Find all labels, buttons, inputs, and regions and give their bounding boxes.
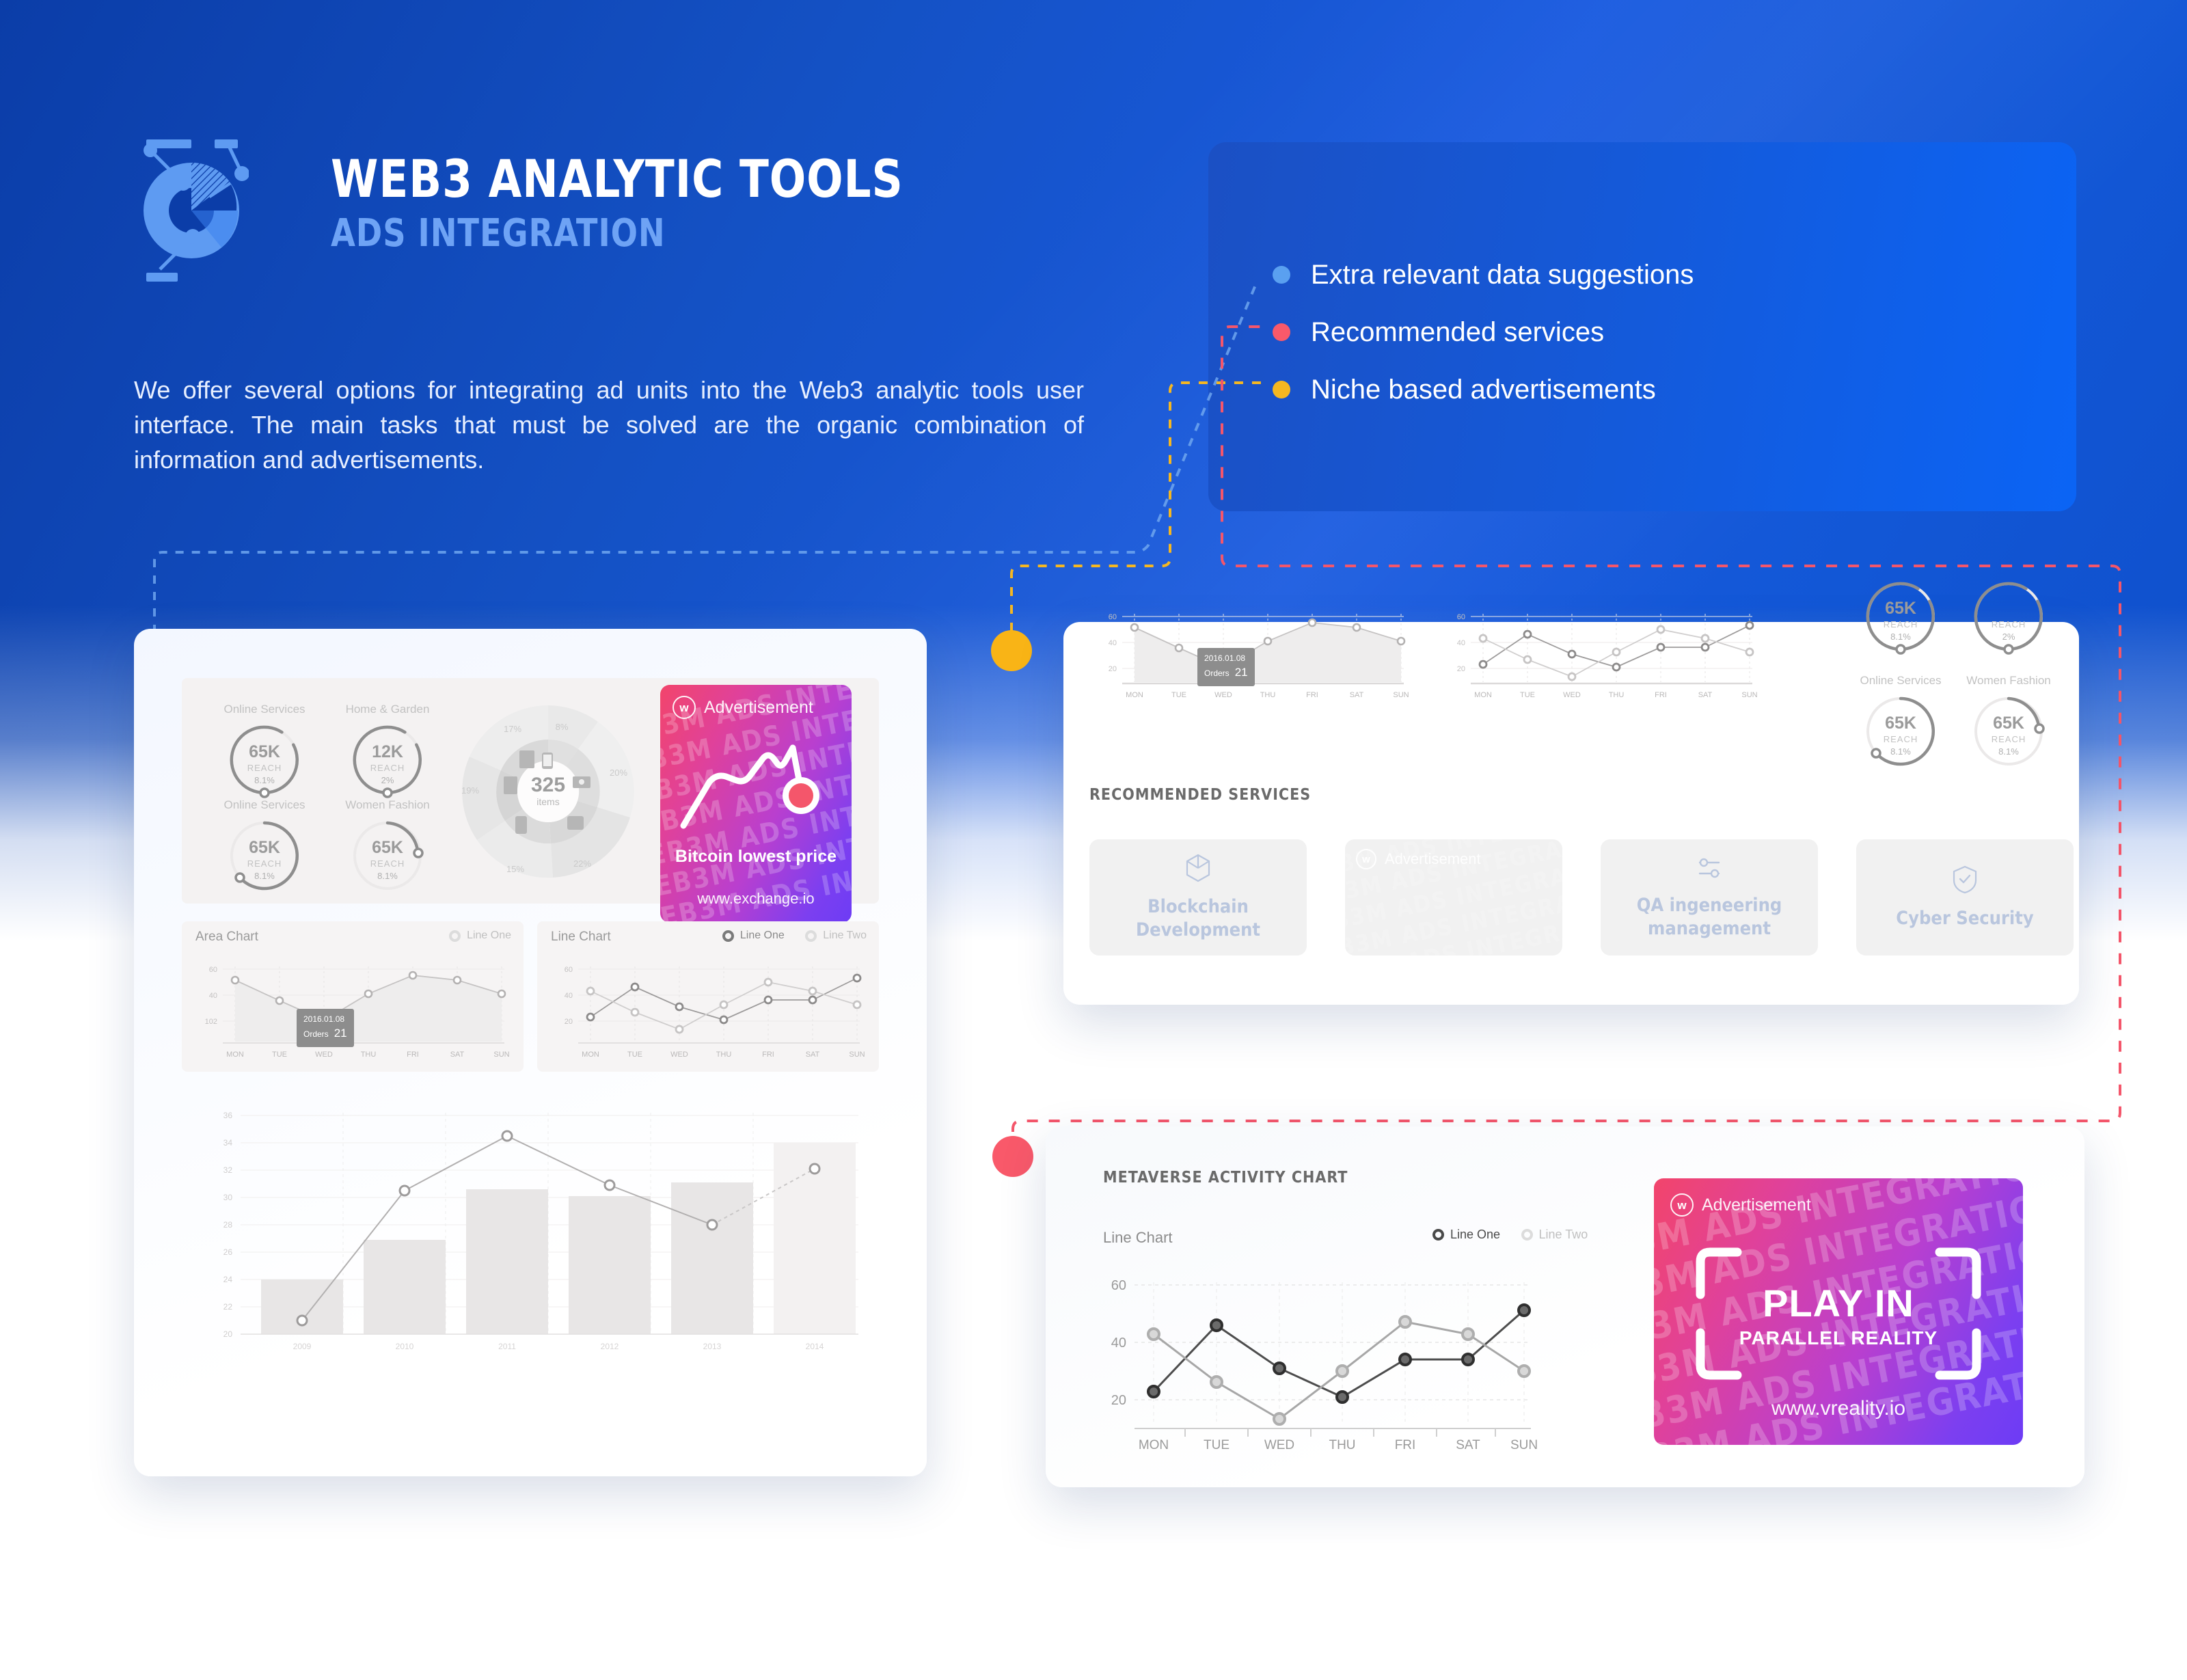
- node-marker-red: [992, 1136, 1033, 1177]
- metric-value: 65K: [1862, 714, 1939, 733]
- cube-icon: [1184, 853, 1212, 883]
- donut-chart: 8% 20% 22% 15% 19% 17% 325 items: [452, 696, 644, 887]
- donut-center-unit: items: [536, 796, 559, 807]
- svg-text:22%: 22%: [573, 858, 591, 869]
- book-icon: [567, 816, 584, 830]
- legend-ring-icon: [1521, 1229, 1533, 1241]
- svg-text:SAT: SAT: [1456, 1438, 1480, 1452]
- svg-text:60: 60: [1457, 613, 1465, 621]
- svg-text:2011: 2011: [498, 1342, 516, 1351]
- section-title-recommended-services: RECOMMENDED SERVICES: [1089, 786, 1311, 804]
- svg-text:FRI: FRI: [1395, 1438, 1416, 1452]
- metaverse-activity-panel: METAVERSE ACTIVITY CHART Line Chart Line…: [1046, 1126, 2084, 1487]
- notes-icon: [519, 750, 534, 768]
- chart-title: Line Chart: [551, 930, 611, 945]
- metric-women-fashion: Women Fashion 65K REACH 8.1%: [336, 798, 439, 894]
- donut-center-value: 325: [531, 774, 565, 796]
- svg-text:30: 30: [223, 1193, 233, 1202]
- metric-label: Women Fashion: [336, 798, 439, 812]
- advertisement-card-vreality[interactable]: WEB3M ADS INTEGRATIONS WEB3M ADS INTEGRA…: [1654, 1178, 2023, 1445]
- metric-ring: 65K REACH 8.1%: [349, 817, 426, 894]
- left-area-chart-card: Area Chart Line One 6040102: [182, 921, 524, 1072]
- chart-legend[interactable]: Line One: [431, 930, 511, 945]
- svg-text:40: 40: [1109, 639, 1117, 647]
- svg-text:24: 24: [223, 1275, 233, 1284]
- ad-label: Advertisement: [704, 698, 813, 718]
- ad-url[interactable]: www.exchange.io: [660, 890, 852, 908]
- svg-text:TUE: TUE: [1171, 691, 1186, 699]
- svg-text:SUN: SUN: [493, 1051, 509, 1059]
- legend-item-2[interactable]: Niche based advertisements: [1273, 361, 1694, 418]
- svg-text:40: 40: [565, 992, 573, 1000]
- metric-ring: 65K REACH 8.1%: [1862, 693, 1939, 770]
- svg-text:SUN: SUN: [1393, 691, 1409, 699]
- legend-series-label: Line One: [1450, 1228, 1500, 1242]
- svg-text:MON: MON: [1126, 691, 1143, 699]
- metric-sub: REACH: [226, 763, 303, 773]
- ad-headline-secondary: PARALLEL REALITY: [1654, 1327, 2023, 1349]
- web3m-badge-icon: w: [673, 696, 696, 719]
- legend-label: Niche based advertisements: [1311, 375, 1656, 405]
- svg-text:SAT: SAT: [1698, 691, 1713, 699]
- legend-series-label: Line One: [740, 930, 785, 942]
- legend-ring-icon: [805, 930, 817, 942]
- ad-header: w Advertisement: [1356, 849, 1481, 869]
- section-title-metaverse: METAVERSE ACTIVITY CHART: [1103, 1169, 1348, 1187]
- svg-text:20: 20: [1111, 1393, 1126, 1408]
- page-title: WEB3 ANALYTIC TOOLS: [331, 153, 904, 205]
- service-card-qa[interactable]: QA ingeneering management: [1601, 839, 1818, 956]
- metric-online-services-2: Online Services 65K REACH 8.1%: [213, 798, 316, 894]
- svg-text:34: 34: [223, 1138, 233, 1148]
- metric-value: 65K: [349, 838, 426, 858]
- svg-text:FRI: FRI: [1655, 691, 1667, 699]
- metric-sub: REACH: [1862, 619, 1939, 629]
- legend-item-1[interactable]: Recommended services: [1273, 303, 1694, 361]
- svg-text:MON: MON: [1139, 1438, 1169, 1452]
- web3m-badge-icon: w: [1670, 1193, 1694, 1217]
- legend-ring-icon: [449, 930, 461, 942]
- svg-text:MON: MON: [1474, 691, 1492, 699]
- metric-home-garden: Home & Garden 12K REACH 2%: [336, 703, 439, 798]
- legend-dot-icon: [1273, 381, 1290, 398]
- svg-text:MON: MON: [582, 1051, 599, 1059]
- svg-text:MON: MON: [226, 1051, 244, 1059]
- svg-text:19%: 19%: [461, 785, 479, 796]
- svg-text:SUN: SUN: [849, 1051, 865, 1059]
- svg-text:17%: 17%: [504, 724, 521, 734]
- bar-chart-svg: 363432 302826 242220 200920102011: [182, 1100, 879, 1360]
- legend-label: Extra relevant data suggestions: [1311, 260, 1694, 290]
- svg-text:20: 20: [223, 1329, 233, 1339]
- ad-label: Advertisement: [1385, 850, 1481, 868]
- chart-legend[interactable]: Line One Line Two: [1415, 1228, 1588, 1244]
- metric-percent: 8.1%: [226, 871, 303, 881]
- svg-text:102: 102: [205, 1018, 217, 1026]
- svg-text:WED: WED: [670, 1051, 688, 1059]
- svg-text:26: 26: [223, 1247, 233, 1257]
- metric-ring: 12K REACH 2%: [349, 722, 426, 798]
- ad-sparkline-graphic: [660, 724, 852, 848]
- service-card-advertisement[interactable]: WEB3M ADS INTEGRATIONS WEB3M ADS INTEGRA…: [1345, 839, 1562, 956]
- metric-sub: REACH: [349, 858, 426, 869]
- chart-title: Line Chart: [1103, 1229, 1173, 1247]
- svg-text:SAT: SAT: [806, 1051, 820, 1059]
- metric-value: 65K: [1970, 714, 2047, 733]
- web3m-badge-icon: w: [1356, 849, 1376, 869]
- chart-legend[interactable]: Line One Line Two: [705, 930, 867, 945]
- metric-ring: 65K REACH 8.1%: [226, 722, 303, 798]
- tr-line-chart-svg: 604020 MONTUEWED THUFRISATSUN: [1441, 601, 1762, 704]
- svg-text:2010: 2010: [396, 1342, 414, 1351]
- legend-dot-icon: [1273, 323, 1290, 341]
- svg-text:20%: 20%: [610, 768, 627, 778]
- svg-text:60: 60: [209, 966, 217, 974]
- svg-text:THU: THU: [1609, 691, 1625, 699]
- metric-sub: REACH: [349, 763, 426, 773]
- archive-icon: [504, 776, 517, 794]
- svg-text:22: 22: [223, 1302, 233, 1312]
- metric-label: Online Services: [213, 703, 316, 716]
- metric-value: 12K: [349, 742, 426, 762]
- svg-text:TUE: TUE: [1520, 691, 1535, 699]
- svg-text:WED: WED: [1264, 1438, 1294, 1452]
- svg-text:TUE: TUE: [627, 1051, 642, 1059]
- svg-text:2014: 2014: [806, 1342, 824, 1351]
- svg-text:WED: WED: [1214, 691, 1232, 699]
- metaverse-line-chart-svg: 604020 MONTUEWED THUFRISATSUN: [1087, 1266, 1551, 1457]
- svg-text:15%: 15%: [506, 864, 524, 874]
- metric-value: 65K: [1862, 599, 1939, 619]
- ad-header: w Advertisement: [1670, 1193, 1811, 1217]
- svg-text:FRI: FRI: [1306, 691, 1318, 699]
- metric-percent: 8.1%: [349, 871, 426, 881]
- legend-label: Recommended services: [1311, 317, 1604, 348]
- metric-sub: REACH: [226, 858, 303, 869]
- legend-series-label: Line Two: [1539, 1228, 1588, 1242]
- ad-label: Advertisement: [1702, 1195, 1811, 1215]
- service-card-blockchain[interactable]: Blockchain Development: [1089, 839, 1307, 956]
- svg-text:SUN: SUN: [1510, 1438, 1538, 1452]
- metric-percent: 8.1%: [1862, 746, 1939, 757]
- svg-text:40: 40: [1457, 639, 1465, 647]
- metric-ring: 65K REACH 8.1%: [1970, 693, 2047, 770]
- legend-series-label: Line One: [467, 930, 511, 942]
- service-card-label: Cyber Security: [1896, 907, 2033, 930]
- service-card-cyber-security[interactable]: Cyber Security: [1856, 839, 2074, 956]
- left-line-chart-card: Line Chart Line One Line Two 604020: [537, 921, 879, 1072]
- legend-ring-icon: [722, 930, 734, 942]
- tr-metric-online-services: Online Services 65K REACH 8.1%: [1849, 674, 1952, 770]
- tr-metric-women-fashion: Women Fashion 65K REACH 8.1%: [1957, 674, 2060, 770]
- metric-percent: 8.1%: [1862, 632, 1939, 642]
- metric-percent: 2%: [349, 775, 426, 785]
- chart-title: Area Chart: [195, 930, 258, 945]
- metric-label: Home & Garden: [336, 703, 439, 716]
- shield-check-icon: [1951, 865, 1979, 895]
- svg-text:SAT: SAT: [450, 1051, 465, 1059]
- svg-text:32: 32: [223, 1165, 233, 1175]
- line-chart-svg: 604020 MONTUEWED THUFRISATSUN: [548, 954, 869, 1063]
- svg-text:THU: THU: [1329, 1438, 1355, 1452]
- ad-header: w Advertisement: [673, 696, 813, 719]
- svg-text:28: 28: [223, 1220, 233, 1230]
- metric-sub: REACH: [1862, 734, 1939, 744]
- svg-text:8%: 8%: [556, 722, 569, 732]
- chart-tooltip: 2016.01.08 Orders21: [297, 1009, 354, 1047]
- svg-text:THU: THU: [1260, 691, 1276, 699]
- svg-text:FRI: FRI: [407, 1051, 419, 1059]
- metric-label: Online Services: [213, 798, 316, 812]
- svg-text:2009: 2009: [293, 1342, 312, 1351]
- svg-text:60: 60: [565, 966, 573, 974]
- svg-text:60: 60: [1109, 613, 1117, 621]
- svg-text:THU: THU: [361, 1051, 377, 1059]
- ad-headline-primary: PLAY IN: [1654, 1281, 2023, 1325]
- svg-text:20: 20: [1109, 665, 1117, 673]
- metric-ring: REACH 2%: [1970, 578, 2047, 655]
- metric-online-services-1: Online Services 65K REACH 8.1%: [213, 703, 316, 798]
- left-dashboard-panel: Online Services 65K REACH 8.1% Home & Ga…: [134, 629, 927, 1476]
- metric-ring: 65K REACH 8.1%: [226, 817, 303, 894]
- metric-percent: 8.1%: [226, 775, 303, 785]
- web3-analytic-logo: [134, 134, 249, 287]
- svg-text:2012: 2012: [601, 1342, 619, 1351]
- left-overview-card: Online Services 65K REACH 8.1% Home & Ga…: [182, 678, 879, 904]
- tr-metric-top-1: 65K REACH 8.1%: [1849, 578, 1952, 655]
- svg-text:SUN: SUN: [1741, 691, 1757, 699]
- legend-ring-icon: [1432, 1229, 1444, 1241]
- svg-text:40: 40: [209, 992, 217, 1000]
- node-marker-yellow: [991, 630, 1032, 671]
- legend-dot-icon: [1273, 266, 1290, 284]
- svg-text:36: 36: [223, 1111, 233, 1120]
- metric-percent: 2%: [1970, 632, 2047, 642]
- legend-series-label: Line Two: [823, 930, 867, 942]
- svg-text:WED: WED: [1563, 691, 1581, 699]
- mobile-app-icon: [515, 816, 527, 834]
- service-card-label: Blockchain Development: [1089, 895, 1307, 942]
- metric-label: Women Fashion: [1957, 674, 2060, 688]
- sliders-icon: [1694, 854, 1724, 882]
- svg-text:WED: WED: [315, 1051, 333, 1059]
- recommended-services-panel: 604020 MONTUEWED THUFRISATSUN 2016.01.08…: [1063, 622, 2079, 1005]
- left-bar-chart-card: 363432 302826 242220 200920102011: [182, 1100, 879, 1360]
- legend-list: Extra relevant data suggestions Recommen…: [1273, 246, 1694, 418]
- svg-text:SAT: SAT: [1350, 691, 1364, 699]
- svg-text:40: 40: [1111, 1336, 1126, 1351]
- service-card-label: QA ingeneering management: [1601, 894, 1818, 940]
- svg-text:FRI: FRI: [762, 1051, 774, 1059]
- metric-sub: REACH: [1970, 619, 2047, 629]
- metric-ring: 65K REACH 8.1%: [1862, 578, 1939, 655]
- metric-value: 65K: [226, 838, 303, 858]
- metric-value: 65K: [226, 742, 303, 762]
- svg-text:TUE: TUE: [1204, 1438, 1230, 1452]
- legend-item-0[interactable]: Extra relevant data suggestions: [1273, 246, 1694, 303]
- advertisement-card-bitcoin[interactable]: WEB3M ADS INTEGRATIONS WEB3M ADS INTEGRA…: [660, 685, 852, 923]
- metric-label: Online Services: [1849, 674, 1952, 688]
- svg-text:20: 20: [1457, 665, 1465, 673]
- svg-text:THU: THU: [716, 1051, 732, 1059]
- intro-paragraph: We offer several options for integrating…: [134, 372, 1084, 477]
- svg-text:TUE: TUE: [272, 1051, 287, 1059]
- svg-text:60: 60: [1111, 1278, 1126, 1293]
- svg-text:2013: 2013: [703, 1342, 722, 1351]
- svg-text:20: 20: [565, 1018, 573, 1026]
- metric-percent: 8.1%: [1970, 746, 2047, 757]
- ad-headline: Bitcoin lowest price: [660, 846, 852, 867]
- chart-tooltip: 2016.01.08 Orders21: [1197, 648, 1255, 686]
- ad-url[interactable]: www.vreality.io: [1654, 1397, 2023, 1420]
- metric-sub: REACH: [1970, 734, 2047, 744]
- page-subtitle: ADS INTEGRATION: [331, 215, 904, 253]
- tr-metric-top-2: REACH 2%: [1957, 578, 2060, 655]
